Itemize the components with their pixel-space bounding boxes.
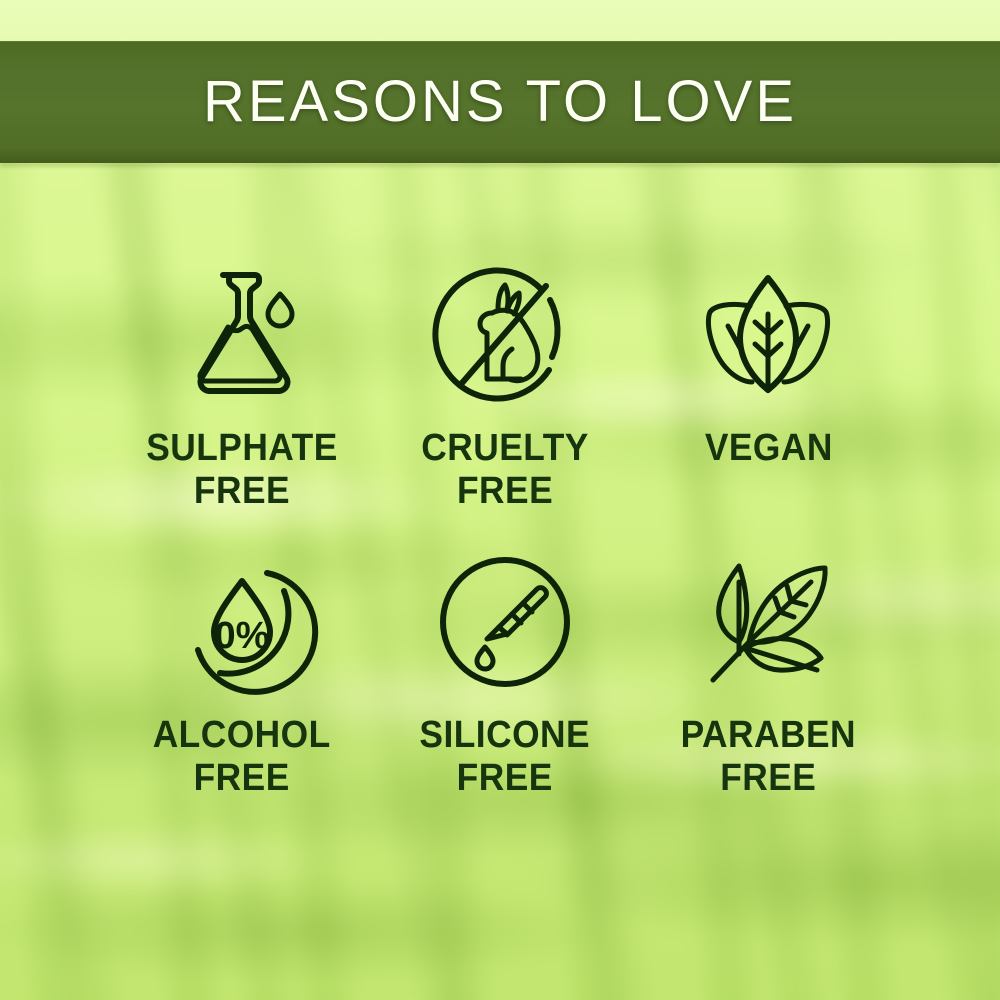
page-title: REASONS TO LOVE xyxy=(203,73,797,131)
badge-cruelty-free: CRUELTY FREE xyxy=(373,265,636,552)
badge-label: SULPHATE FREE xyxy=(146,427,338,514)
no-rabbit-icon xyxy=(436,265,574,405)
badge-alcohol-free: 0% ALCOHOL FREE xyxy=(110,552,373,839)
badge-label: SILICONE FREE xyxy=(420,714,591,801)
badge-label: CRUELTY FREE xyxy=(421,427,589,514)
badge-label: PARABEN FREE xyxy=(681,714,856,801)
badge-silicone-free: SILICONE FREE xyxy=(373,552,636,839)
reasons-to-love-infographic: REASONS TO LOVE SULPHATE FREE xyxy=(0,0,1000,1000)
flask-droplet-icon xyxy=(176,265,308,405)
badge-grid: SULPHATE FREE xyxy=(110,265,900,839)
badge-paraben-free: PARABEN FREE xyxy=(637,552,900,839)
three-leaves-icon xyxy=(698,265,838,405)
badge-label: ALCOHOL FREE xyxy=(153,714,331,801)
zero-percent-droplet-icon: 0% xyxy=(175,552,309,692)
background-top-light xyxy=(0,0,1000,44)
header-band: REASONS TO LOVE xyxy=(0,41,1000,163)
badge-label: VEGAN xyxy=(704,427,832,470)
leaf-branch-icon xyxy=(697,552,839,692)
badge-sulphate-free: SULPHATE FREE xyxy=(110,265,373,552)
badge-vegan: VEGAN xyxy=(637,265,900,552)
dropper-pipette-icon xyxy=(438,552,572,692)
droplet-percent-value: 0% xyxy=(214,615,269,657)
